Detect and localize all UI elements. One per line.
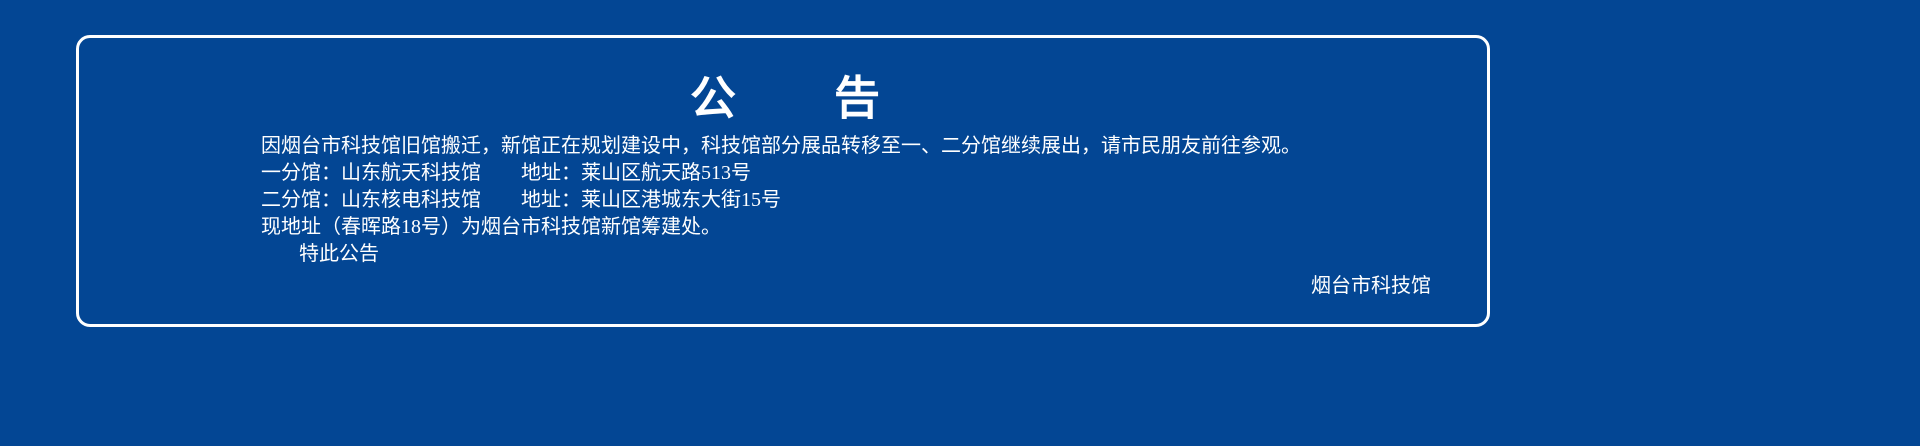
notice-frame-border: 公 告 因烟台市科技馆旧馆搬迁，新馆正在规划建设中，科技馆部分展品转移至一、二分… xyxy=(76,35,1490,327)
page-title: 公 告 xyxy=(79,76,1493,122)
notice-body-text: 因烟台市科技馆旧馆搬迁，新馆正在规划建设中，科技馆部分展品转移至一、二分馆继续展… xyxy=(261,133,1441,268)
notice-body-line: 特此公告 xyxy=(261,241,1441,268)
notice-board: 公 告 因烟台市科技馆旧馆搬迁，新馆正在规划建设中，科技馆部分展品转移至一、二分… xyxy=(0,0,1920,446)
notice-body-line: 二分馆：山东核电科技馆 地址：莱山区港城东大街15号 xyxy=(261,187,1441,214)
notice-signature: 烟台市科技馆 xyxy=(79,273,1431,300)
notice-body-line: 一分馆：山东航天科技馆 地址：莱山区航天路513号 xyxy=(261,160,1441,187)
notice-body-line: 现地址（春晖路18号）为烟台市科技馆新馆筹建处。 xyxy=(261,214,1441,241)
notice-body-line: 因烟台市科技馆旧馆搬迁，新馆正在规划建设中，科技馆部分展品转移至一、二分馆继续展… xyxy=(261,133,1441,160)
